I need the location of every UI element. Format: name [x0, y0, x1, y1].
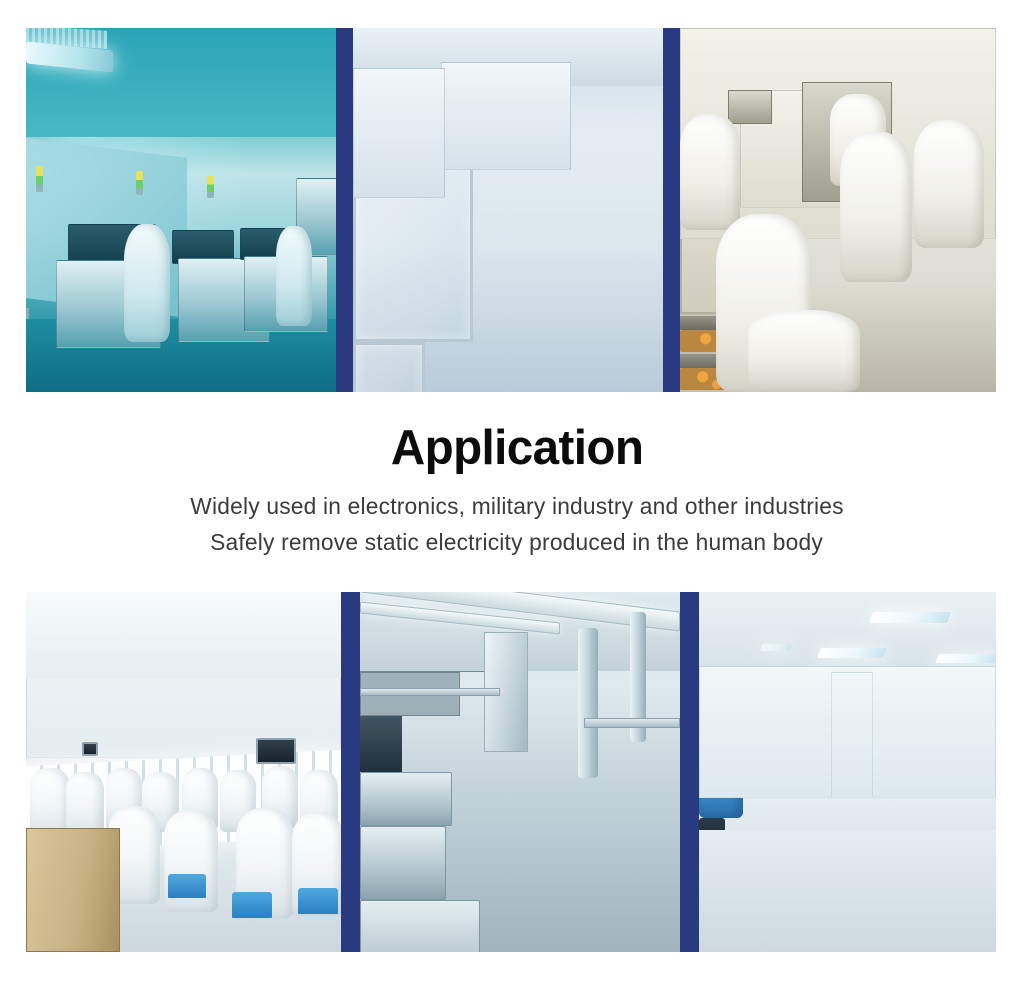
ceiling-light-icon [817, 648, 887, 658]
support-pillar [831, 672, 873, 798]
signal-beacon-icon [207, 176, 214, 198]
worker-figure [748, 310, 860, 392]
stool [232, 892, 272, 918]
overhead-rail [584, 718, 680, 728]
panel-divider [663, 28, 680, 392]
worker-figure [276, 226, 312, 326]
worker-figure [914, 120, 984, 248]
panel-blue-gown-cleanroom [699, 592, 996, 952]
ceiling-light-icon [935, 654, 996, 663]
back-wall [441, 62, 571, 170]
panel-assembly-hall [26, 592, 341, 952]
panel-divider [341, 592, 360, 952]
process-tool [360, 900, 480, 952]
caption-line-1: Widely used in electronics, military ind… [190, 489, 843, 525]
wall-monitor [256, 738, 296, 764]
control-box [728, 90, 772, 124]
ceiling-light-icon [869, 612, 951, 623]
cardboard-box [26, 828, 120, 952]
vertical-duct [578, 628, 598, 778]
pharma-cleanroom-scene [353, 28, 663, 392]
worker-figure [124, 224, 170, 342]
wall-monitor [82, 742, 98, 756]
panel-divider [336, 28, 353, 392]
worker-figure [840, 132, 912, 282]
caption-block: Application Widely used in electronics, … [0, 392, 1034, 592]
blue-gown-cleanroom-scene [699, 592, 996, 952]
smt-cleanroom-scene [26, 28, 336, 392]
panel-semiconductor-fab [360, 592, 680, 952]
machine-enclosure [353, 342, 425, 392]
food-processing-scene [680, 28, 996, 392]
ceiling [26, 592, 341, 678]
semiconductor-fab-scene [360, 592, 680, 952]
process-tool [360, 772, 452, 826]
panel-pharma-cleanroom [353, 28, 663, 392]
worker-figure [680, 114, 740, 230]
panel-food-processing [680, 28, 996, 392]
floor [699, 830, 996, 952]
application-promo-page: Application Widely used in electronics, … [0, 0, 1034, 1001]
process-tool [360, 826, 446, 900]
assembly-hall-scene [26, 592, 341, 952]
panel-smt-cleanroom [26, 28, 336, 392]
signal-beacon-icon [136, 171, 143, 195]
stool [168, 874, 206, 898]
page-title: Application [391, 424, 643, 473]
top-image-row [26, 28, 996, 392]
side-wall [353, 68, 445, 198]
stool [298, 888, 338, 914]
panel-divider [680, 592, 699, 952]
ceiling-light-icon [760, 644, 793, 651]
caption-line-2: Safely remove static electricity produce… [211, 525, 824, 561]
overhead-rail [360, 688, 500, 696]
bottom-image-row [26, 592, 996, 952]
signal-beacon-icon [36, 166, 43, 192]
dark-opening [360, 716, 402, 772]
